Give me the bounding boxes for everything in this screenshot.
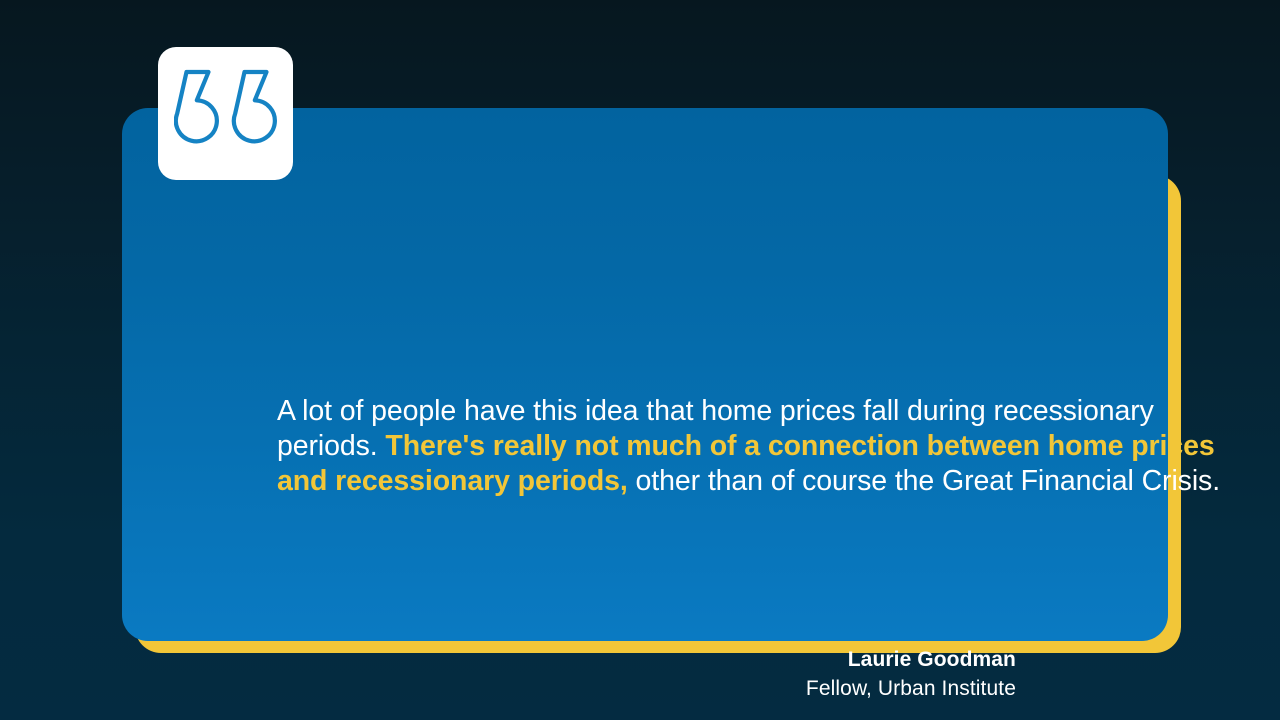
- quote-text-part-2: other than of course the Great Financial…: [628, 465, 1220, 497]
- attribution: Laurie Goodman Fellow, Urban Institute: [806, 646, 1016, 704]
- quote-card: A lot of people have this idea that home…: [122, 108, 1168, 641]
- quote-slide: A lot of people have this idea that home…: [0, 0, 1280, 720]
- attribution-name: Laurie Goodman: [806, 646, 1016, 674]
- attribution-role: Fellow, Urban Institute: [806, 674, 1016, 704]
- quote-badge: [158, 47, 293, 180]
- double-quote-icon: [174, 69, 278, 159]
- quote-text: A lot of people have this idea that home…: [277, 394, 1237, 499]
